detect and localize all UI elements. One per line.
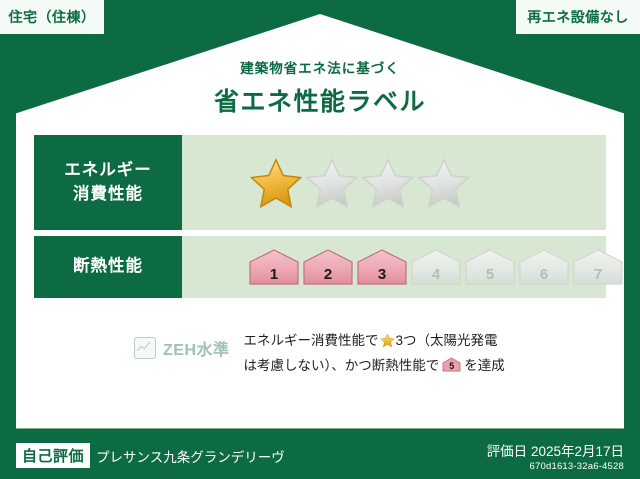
title-subtitle: 建築物省エネ法に基づく <box>0 57 640 77</box>
grade-house-3-label: 3 <box>356 267 408 282</box>
inline-grade-chip: 5 <box>442 357 461 372</box>
grade-scale: 1234567 <box>182 248 624 286</box>
inline-star-icon <box>380 333 395 355</box>
inline-grade-chip-value: 5 <box>442 362 461 371</box>
grade-house-2-label: 2 <box>302 267 354 282</box>
grade-house-6-label: 6 <box>518 267 570 282</box>
zeh-chart-icon <box>134 337 156 359</box>
zeh-desc-part3: を達成 <box>464 358 505 373</box>
title-heading: 省エネ性能ラベル <box>0 82 640 118</box>
grade-house-5-label: 5 <box>464 267 516 282</box>
row-energy-value <box>182 135 606 230</box>
ratings-section: エネルギー 消費性能 断熱性能 1234567 <box>34 135 606 304</box>
evaluation-date: 評価日 2025年2月17日 <box>487 440 624 460</box>
star-rating <box>182 157 470 209</box>
zeh-desc-part1: エネルギー消費性能で <box>244 333 379 348</box>
star-2-empty-icon <box>306 157 358 209</box>
self-evaluation-badge: 自己評価 <box>16 443 90 468</box>
renewable-energy-tag: 再エネ設備なし <box>516 0 640 34</box>
page-title: 建築物省エネ法に基づく 省エネ性能ラベル <box>0 57 640 118</box>
row-insulation: 断熱性能 1234567 <box>34 236 606 298</box>
footer-divider <box>16 428 624 429</box>
row-energy-label: エネルギー 消費性能 <box>34 135 182 230</box>
grade-house-4-inactive: 4 <box>410 248 462 286</box>
grade-house-5-inactive: 5 <box>464 248 516 286</box>
zeh-description: エネルギー消費性能で3つ（太陽光発電は考慮しない）、かつ断熱性能で5を達成 <box>230 330 606 378</box>
zeh-badge: ZEH水準 <box>34 330 230 360</box>
row-energy-label-line1: エネルギー <box>64 159 152 183</box>
footer-bar: 自己評価 プレサンス九条グランデリーヴ 評価日 2025年2月17日 670d1… <box>0 432 640 479</box>
evaluation-meta: 評価日 2025年2月17日 670d1613-32a6-4528 <box>487 440 624 472</box>
grade-house-6-inactive: 6 <box>518 248 570 286</box>
zeh-desc-starcount: 3つ（太陽光発電 <box>396 333 498 348</box>
grade-house-1-active: 1 <box>248 248 300 286</box>
grade-house-2-active: 2 <box>302 248 354 286</box>
row-insulation-label-line1: 断熱性能 <box>73 255 143 279</box>
grade-house-1-label: 1 <box>248 267 300 282</box>
zeh-desc-part2: は考慮しない）、かつ断熱性能で <box>244 358 440 373</box>
grade-house-4-label: 4 <box>410 267 462 282</box>
star-4-empty-icon <box>418 157 470 209</box>
property-name: プレサンス九条グランデリーヴ <box>96 446 285 466</box>
row-energy-label-line2: 消費性能 <box>73 183 143 207</box>
evaluation-id: 670d1613-32a6-4528 <box>487 461 624 472</box>
grade-house-3-active: 3 <box>356 248 408 286</box>
row-energy-consumption: エネルギー 消費性能 <box>34 135 606 230</box>
building-type-tag: 住宅（住棟） <box>0 0 104 34</box>
energy-label-card: 住宅（住棟） 再エネ設備なし 建築物省エネ法に基づく 省エネ性能ラベル エネルギ… <box>0 0 640 479</box>
row-insulation-label: 断熱性能 <box>34 236 182 298</box>
grade-house-7-inactive: 7 <box>572 248 624 286</box>
grade-house-7-label: 7 <box>572 267 624 282</box>
zeh-note: ZEH水準 エネルギー消費性能で3つ（太陽光発電は考慮しない）、かつ断熱性能で5… <box>34 330 606 378</box>
star-3-empty-icon <box>362 157 414 209</box>
zeh-label: ZEH水準 <box>163 336 230 360</box>
star-1-filled-icon <box>250 157 302 209</box>
row-insulation-value: 1234567 <box>182 236 624 298</box>
